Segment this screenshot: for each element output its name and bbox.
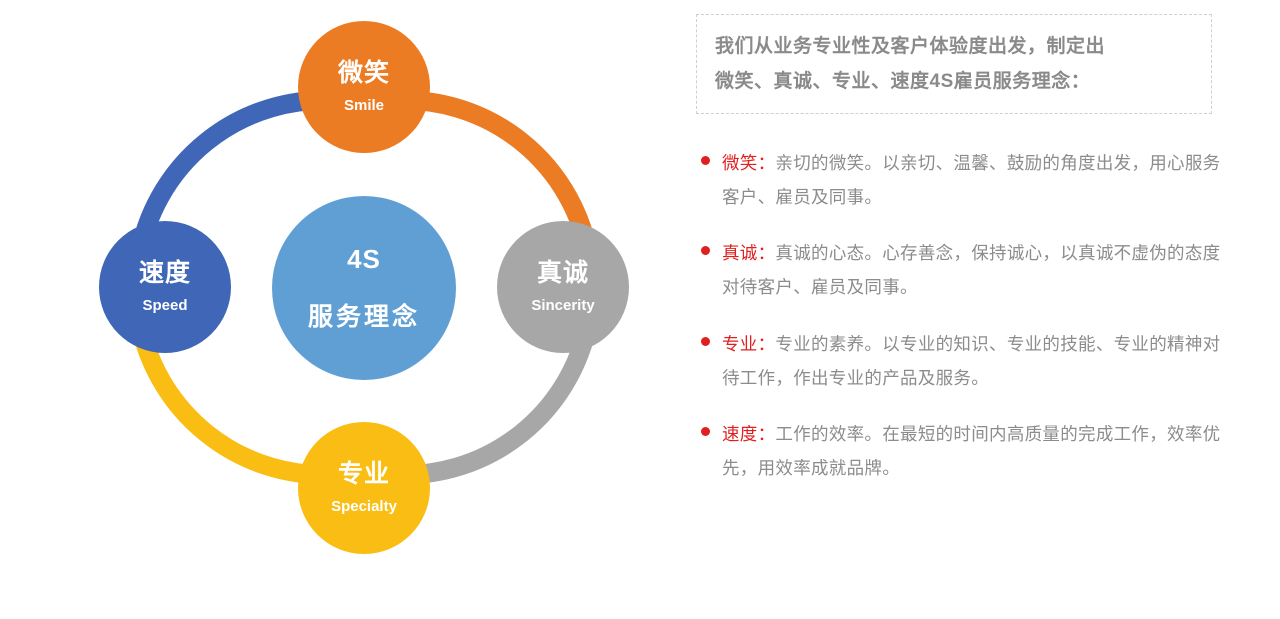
bullet-detail-specialty: 专业的素养。以专业的知识、专业的技能、专业的精神对待工作，作出专业的产品及服务。 (722, 334, 1220, 388)
headline-box: 我们从业务专业性及客户体验度出发，制定出 微笑、真诚、专业、速度4S雇员服务理念… (696, 14, 1212, 114)
node-center-4s[interactable]: 4S 服务理念 (272, 196, 456, 380)
bullet-term-specialty: 专业 (722, 334, 758, 354)
description-panel: 我们从业务专业性及客户体验度出发，制定出 微笑、真诚、专业、速度4S雇员服务理念… (690, 0, 1250, 619)
headline-line-1: 我们从业务专业性及客户体验度出发，制定出 (715, 29, 1195, 64)
bullet-term-smile: 微笑 (722, 153, 758, 173)
node-specialty-label-cn: 专业 (338, 461, 390, 489)
node-speed-label-cn: 速度 (139, 260, 191, 288)
headline-line-2: 微笑、真诚、专业、速度4S雇员服务理念： (715, 64, 1195, 99)
bullet-separator-speed: ： (758, 424, 776, 444)
list-item: 真诚：真诚的心态。心存善念，保持诚心，以真诚不虚伪的态度对待客户、雇员及同事。 (696, 236, 1236, 304)
node-speed-label-en: Speed (142, 298, 187, 315)
bullet-separator-specialty: ： (758, 334, 776, 354)
list-item: 速度：工作的效率。在最短的时间内高质量的完成工作，效率优先，用效率成就品牌。 (696, 417, 1236, 485)
node-smile[interactable]: 微笑 Smile (298, 21, 430, 153)
bullet-dot-icon (701, 246, 710, 255)
node-sincerity-label-cn: 真诚 (537, 260, 589, 288)
bullet-text-sincerity: 真诚：真诚的心态。心存善念，保持诚心，以真诚不虚伪的态度对待客户、雇员及同事。 (722, 236, 1236, 304)
bullet-text-speed: 速度：工作的效率。在最短的时间内高质量的完成工作，效率优先，用效率成就品牌。 (722, 417, 1236, 485)
bullet-text-specialty: 专业：专业的素养。以专业的知识、专业的技能、专业的精神对待工作，作出专业的产品及… (722, 327, 1236, 395)
node-smile-label-cn: 微笑 (338, 60, 390, 88)
node-speed[interactable]: 速度 Speed (99, 221, 231, 353)
bullet-detail-speed: 工作的效率。在最短的时间内高质量的完成工作，效率优先，用效率成就品牌。 (722, 424, 1220, 478)
node-sincerity-label-en: Sincerity (531, 298, 594, 315)
bullet-text-smile: 微笑：亲切的微笑。以亲切、温馨、鼓励的角度出发，用心服务客户、雇员及同事。 (722, 146, 1236, 214)
node-smile-label-en: Smile (344, 98, 384, 115)
list-item: 专业：专业的素养。以专业的知识、专业的技能、专业的精神对待工作，作出专业的产品及… (696, 327, 1236, 395)
bullet-term-sincerity: 真诚 (722, 243, 758, 263)
bullet-term-speed: 速度 (722, 424, 758, 444)
bullet-dot-icon (701, 337, 710, 346)
center-label-service-concept: 服务理念 (308, 297, 420, 333)
bullet-separator-smile: ： (758, 153, 776, 173)
node-sincerity[interactable]: 真诚 Sincerity (497, 221, 629, 353)
principles-list: 微笑：亲切的微笑。以亲切、温馨、鼓励的角度出发，用心服务客户、雇员及同事。 真诚… (696, 146, 1236, 507)
center-label-4s: 4S (347, 244, 381, 275)
bullet-detail-smile: 亲切的微笑。以亲切、温馨、鼓励的角度出发，用心服务客户、雇员及同事。 (722, 153, 1220, 207)
node-specialty-label-en: Specialty (331, 499, 397, 516)
service-concept-diagram: 微笑 Smile 真诚 Sincerity 专业 Specialty 速度 Sp… (0, 0, 680, 619)
node-specialty[interactable]: 专业 Specialty (298, 422, 430, 554)
bullet-detail-sincerity: 真诚的心态。心存善念，保持诚心，以真诚不虚伪的态度对待客户、雇员及同事。 (722, 243, 1220, 297)
bullet-dot-icon (701, 427, 710, 436)
list-item: 微笑：亲切的微笑。以亲切、温馨、鼓励的角度出发，用心服务客户、雇员及同事。 (696, 146, 1236, 214)
bullet-separator-sincerity: ： (758, 243, 776, 263)
bullet-dot-icon (701, 156, 710, 165)
